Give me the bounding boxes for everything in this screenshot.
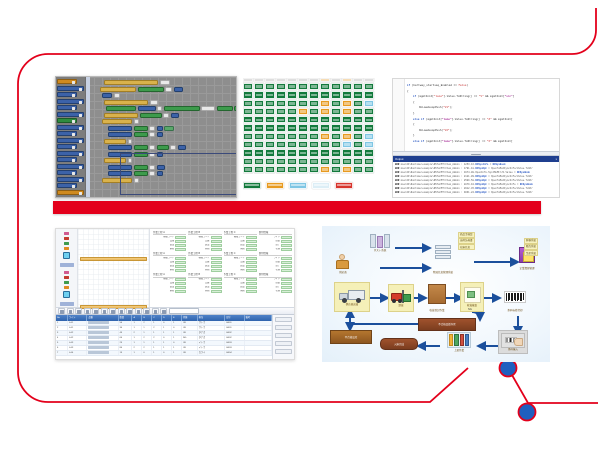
table-cell[interactable]: 0 xyxy=(172,341,182,345)
table-cell[interactable]: NG xyxy=(182,336,198,340)
table-cell[interactable]: 2 xyxy=(142,336,152,340)
form-field-value[interactable] xyxy=(246,240,257,243)
table-cell[interactable]: 1 xyxy=(162,341,172,345)
workspace-block[interactable] xyxy=(170,145,176,150)
form-field-value[interactable] xyxy=(246,236,257,239)
status-tile[interactable] xyxy=(287,166,297,173)
block-row[interactable] xyxy=(88,93,237,98)
table-cell[interactable]: OK xyxy=(182,341,198,345)
workspace-block[interactable] xyxy=(140,113,162,118)
workspace-block[interactable] xyxy=(108,126,132,131)
workspace-block[interactable] xyxy=(234,106,237,111)
status-tile[interactable] xyxy=(342,83,352,90)
resource-node[interactable] xyxy=(63,252,70,259)
form-field-value[interactable] xyxy=(175,257,186,260)
table-cell[interactable]: 3 xyxy=(56,331,68,335)
toolbar-button-open[interactable] xyxy=(67,308,74,314)
table-cell[interactable]: 1 xyxy=(162,346,172,350)
table-cell[interactable]: 0 xyxy=(162,321,172,325)
status-tile[interactable] xyxy=(298,133,308,140)
workspace-block[interactable] xyxy=(163,113,169,118)
table-cell[interactable]: 15 xyxy=(119,351,133,355)
status-tile[interactable] xyxy=(320,83,330,90)
form-field-value[interactable] xyxy=(281,278,292,281)
table-cell[interactable]: 1 xyxy=(172,321,182,325)
block-row[interactable] xyxy=(88,132,237,137)
workspace-block[interactable] xyxy=(174,87,183,92)
workspace-block[interactable] xyxy=(165,87,172,92)
table-cell[interactable]: 1 xyxy=(152,321,162,325)
table-cell[interactable]: L-03 xyxy=(68,341,88,345)
palette-block[interactable] xyxy=(57,157,77,162)
form-field-value[interactable] xyxy=(211,282,222,285)
table-cell[interactable]: 2 xyxy=(56,326,68,330)
status-tile[interactable] xyxy=(309,141,319,148)
form-field-value[interactable] xyxy=(246,248,257,251)
workspace-block[interactable] xyxy=(108,132,132,137)
form-field-value[interactable] xyxy=(175,244,186,247)
table-cell[interactable] xyxy=(245,341,272,345)
status-tile[interactable] xyxy=(353,149,363,156)
status-tile[interactable] xyxy=(265,149,275,156)
status-tile[interactable] xyxy=(353,124,363,131)
status-tile[interactable] xyxy=(342,141,352,148)
status-tile[interactable] xyxy=(287,91,297,98)
status-tile[interactable] xyxy=(309,100,319,107)
workspace-block[interactable] xyxy=(201,106,215,111)
palette-block[interactable] xyxy=(57,131,77,136)
table-cell[interactable]: OK xyxy=(182,346,198,350)
workspace-block[interactable] xyxy=(102,93,112,98)
close-icon[interactable]: x xyxy=(556,156,557,162)
table-row[interactable]: 7L-041510101OKカワイ04/04 xyxy=(56,351,272,356)
workspace-block[interactable] xyxy=(171,113,179,118)
block-row[interactable] xyxy=(88,87,237,92)
form-field-value[interactable] xyxy=(211,257,222,260)
status-tile[interactable] xyxy=(364,149,374,156)
status-tile[interactable] xyxy=(353,158,363,165)
status-tile[interactable] xyxy=(298,83,308,90)
table-cell[interactable]: 2 xyxy=(152,326,162,330)
table-cell[interactable]: 6 xyxy=(56,346,68,350)
status-tile[interactable] xyxy=(265,108,275,115)
table-cell[interactable]: 04/02 xyxy=(225,336,245,340)
workspace-block[interactable] xyxy=(114,93,120,98)
form-field-value[interactable] xyxy=(175,248,186,251)
block-row[interactable] xyxy=(88,113,237,118)
form-field-value[interactable] xyxy=(211,244,222,247)
block-row[interactable] xyxy=(88,119,237,124)
status-tile[interactable] xyxy=(254,91,264,98)
workspace-block[interactable] xyxy=(164,106,200,111)
form-field-value[interactable] xyxy=(281,257,292,260)
table-cell[interactable]: 30 xyxy=(119,326,133,330)
workspace-block[interactable] xyxy=(149,145,155,150)
table-cell[interactable]: 1 xyxy=(152,351,162,355)
table-cell[interactable]: OK xyxy=(182,321,198,325)
status-tile[interactable] xyxy=(276,116,286,123)
status-tile[interactable] xyxy=(298,166,308,173)
status-tile[interactable] xyxy=(254,124,264,131)
resource-chip[interactable] xyxy=(64,237,69,240)
resource-chip[interactable] xyxy=(64,271,69,274)
toolbar-button-paste[interactable] xyxy=(109,308,116,314)
status-tile[interactable] xyxy=(254,149,264,156)
workspace-block[interactable] xyxy=(106,106,136,111)
table-cell[interactable] xyxy=(245,326,272,330)
tile-grid-row[interactable] xyxy=(243,166,376,173)
visual-block-program-editor[interactable] xyxy=(55,76,237,198)
status-tile[interactable] xyxy=(243,158,253,165)
form-field-value[interactable] xyxy=(281,248,292,251)
block-row[interactable] xyxy=(88,100,237,105)
table-cell[interactable]: 2 xyxy=(132,346,142,350)
status-tile[interactable] xyxy=(243,141,253,148)
table-cell[interactable] xyxy=(245,351,272,355)
palette-block[interactable] xyxy=(57,118,77,123)
form-field-value[interactable] xyxy=(175,286,186,289)
palette-block[interactable] xyxy=(57,86,84,91)
status-tile[interactable] xyxy=(298,100,308,107)
status-tile[interactable] xyxy=(243,100,253,107)
resource-chip[interactable] xyxy=(64,242,69,245)
form-field-value[interactable] xyxy=(175,278,186,281)
status-tile[interactable] xyxy=(331,158,341,165)
table-cell[interactable]: 2 xyxy=(152,336,162,340)
status-tile[interactable] xyxy=(287,124,297,131)
palette-block[interactable] xyxy=(57,190,84,195)
status-tile[interactable] xyxy=(342,116,352,123)
form-field-value[interactable] xyxy=(175,236,186,239)
status-tile[interactable] xyxy=(342,91,352,98)
status-tile[interactable] xyxy=(298,124,308,131)
table-cell[interactable]: 60 xyxy=(119,336,133,340)
table-cell[interactable]: 1 xyxy=(142,331,152,335)
status-tile[interactable] xyxy=(353,141,363,148)
form-field-value[interactable] xyxy=(281,290,292,293)
form-field-value[interactable] xyxy=(246,269,257,272)
status-tile[interactable] xyxy=(243,149,253,156)
grid-side-button[interactable] xyxy=(275,349,292,354)
status-tile[interactable] xyxy=(276,133,286,140)
table-cell[interactable]: 80 xyxy=(119,346,133,350)
table-cell[interactable]: 1 xyxy=(132,351,142,355)
tile-grid-row[interactable] xyxy=(243,116,376,123)
table-cell[interactable]: 1 xyxy=(142,341,152,345)
status-tile[interactable] xyxy=(331,100,341,107)
status-tile[interactable] xyxy=(364,116,374,123)
status-tile[interactable] xyxy=(320,141,330,148)
table-cell[interactable]: 5 xyxy=(56,341,68,345)
workspace-block[interactable] xyxy=(104,139,126,144)
workspace-block[interactable] xyxy=(128,139,132,144)
status-tile[interactable] xyxy=(254,166,264,173)
table-cell[interactable]: 1 xyxy=(132,326,142,330)
table-cell[interactable]: 1 xyxy=(142,326,152,330)
status-tile[interactable] xyxy=(364,124,374,131)
table-cell[interactable]: サトウ xyxy=(198,321,225,325)
status-tile[interactable] xyxy=(298,141,308,148)
tile-grid-row[interactable] xyxy=(243,108,376,115)
status-tile[interactable] xyxy=(265,141,275,148)
workspace-block[interactable] xyxy=(104,100,148,105)
status-tile[interactable] xyxy=(309,158,319,165)
status-tile[interactable] xyxy=(298,158,308,165)
toolbar-button-redo[interactable] xyxy=(126,308,133,314)
form-field-value[interactable] xyxy=(211,278,222,281)
table-cell[interactable]: 04/03 xyxy=(225,341,245,345)
status-tile[interactable] xyxy=(276,124,286,131)
status-tile[interactable] xyxy=(342,124,352,131)
status-tile[interactable] xyxy=(298,116,308,123)
form-field-value[interactable] xyxy=(211,236,222,239)
status-tile[interactable] xyxy=(320,149,330,156)
block-palette[interactable] xyxy=(56,77,86,197)
status-tile[interactable] xyxy=(331,149,341,156)
status-tile[interactable] xyxy=(287,100,297,107)
scheduler-resource-rail[interactable] xyxy=(56,229,78,307)
table-cell[interactable]: 50 xyxy=(119,321,133,325)
gantt-bar[interactable] xyxy=(80,257,147,261)
resource-node[interactable] xyxy=(63,291,70,298)
palette-block[interactable] xyxy=(57,79,77,84)
status-tile[interactable] xyxy=(320,158,330,165)
table-cell[interactable]: 04/01 xyxy=(225,326,245,330)
status-tile[interactable] xyxy=(309,83,319,90)
palette-block[interactable] xyxy=(57,164,84,169)
form-field-value[interactable] xyxy=(281,269,292,272)
log-output-list[interactable]: ERR mserdb\Runtime\example\RSToCMT\Item_… xyxy=(393,162,559,196)
table-cell[interactable]: カワイ xyxy=(198,351,225,355)
status-tile[interactable] xyxy=(276,141,286,148)
status-tile[interactable] xyxy=(364,100,374,107)
status-tile[interactable] xyxy=(265,166,275,173)
form-field-value[interactable] xyxy=(246,282,257,285)
table-cell[interactable]: 1 xyxy=(152,331,162,335)
table-cell[interactable] xyxy=(87,351,118,355)
status-tile[interactable] xyxy=(298,108,308,115)
resource-chip[interactable] xyxy=(64,281,69,284)
workspace-block[interactable] xyxy=(157,132,163,137)
table-cell[interactable]: イトウ xyxy=(198,341,225,345)
palette-block[interactable] xyxy=(57,177,84,182)
form-field-value[interactable] xyxy=(246,261,257,264)
status-tile[interactable] xyxy=(276,166,286,173)
status-tile[interactable] xyxy=(254,141,264,148)
status-tile[interactable] xyxy=(265,116,275,123)
table-cell[interactable] xyxy=(245,331,272,335)
scheduler-data-grid[interactable]: Noライン品番数量ABCDE状態担当日付備考 1L-015012101OKサトウ… xyxy=(56,315,294,359)
data-grid-rows[interactable]: 1L-015012101OKサトウ04/012L-013011210OKサトウ0… xyxy=(56,321,272,356)
status-tile[interactable] xyxy=(287,141,297,148)
workspace-block[interactable] xyxy=(134,126,148,131)
grid-side-button[interactable] xyxy=(275,317,292,322)
table-cell[interactable]: タナカ xyxy=(198,336,225,340)
status-tile[interactable] xyxy=(243,83,253,90)
status-tile[interactable] xyxy=(364,91,374,98)
workspace-block[interactable] xyxy=(104,80,158,85)
log-line[interactable]: ERR mserdb\Runtime\example\RSToCMT\Item_… xyxy=(395,191,557,195)
palette-block[interactable] xyxy=(57,112,84,117)
status-tile[interactable] xyxy=(353,83,363,90)
data-grid-side-buttons[interactable] xyxy=(272,315,294,359)
table-cell[interactable]: OK xyxy=(182,331,198,335)
workspace-block[interactable] xyxy=(104,113,138,118)
block-workspace[interactable] xyxy=(86,77,237,197)
status-tile[interactable] xyxy=(320,116,330,123)
table-cell[interactable] xyxy=(245,321,272,325)
table-cell[interactable] xyxy=(245,336,272,340)
scheduler-detail-form[interactable]: 作業工程 A機種コード品番数量納期作業工程 B機種コード品番数量納期作業工程 C… xyxy=(150,229,294,307)
toolbar-button-save[interactable] xyxy=(75,308,82,314)
workspace-block[interactable] xyxy=(134,119,139,124)
status-tile[interactable] xyxy=(243,133,253,140)
workspace-block[interactable] xyxy=(160,80,170,85)
status-tile[interactable] xyxy=(287,108,297,115)
status-tile[interactable] xyxy=(276,83,286,90)
tile-grid-row[interactable] xyxy=(243,83,376,90)
form-field-value[interactable] xyxy=(211,269,222,272)
code-editor-window[interactable]: if (bartway_startseq_Enabled == false){i… xyxy=(392,78,560,198)
workspace-block[interactable] xyxy=(178,145,186,150)
form-field-value[interactable] xyxy=(246,257,257,260)
table-cell[interactable]: 1 xyxy=(172,331,182,335)
status-tile[interactable] xyxy=(353,100,363,107)
toolbar-combo[interactable] xyxy=(169,308,199,314)
status-tile[interactable] xyxy=(320,124,330,131)
status-tile[interactable] xyxy=(254,83,264,90)
table-cell[interactable]: 1 xyxy=(162,331,172,335)
form-field-value[interactable] xyxy=(175,269,186,272)
form-field-value[interactable] xyxy=(281,282,292,285)
table-cell[interactable]: 1 xyxy=(172,346,182,350)
status-tile[interactable] xyxy=(331,133,341,140)
status-tile[interactable] xyxy=(353,91,363,98)
table-cell[interactable]: 04/02 xyxy=(225,331,245,335)
form-field-value[interactable] xyxy=(211,286,222,289)
resource-chip[interactable] xyxy=(64,247,69,250)
table-cell[interactable] xyxy=(87,346,118,350)
slot-status-grid[interactable] xyxy=(243,78,376,174)
workspace-block[interactable] xyxy=(149,126,155,131)
tile-grid-row[interactable] xyxy=(243,124,376,131)
table-cell[interactable]: 1 xyxy=(132,336,142,340)
code-body[interactable]: if (bartway_startseq_Enabled == false){i… xyxy=(407,83,556,145)
tile-grid-row[interactable] xyxy=(243,149,376,156)
toolbar-button-filter[interactable] xyxy=(143,308,150,314)
status-tile[interactable] xyxy=(254,133,264,140)
status-tile[interactable] xyxy=(265,83,275,90)
toolbar-button-sort[interactable] xyxy=(152,308,159,314)
workspace-block[interactable] xyxy=(157,126,163,131)
table-cell[interactable]: 1 xyxy=(162,326,172,330)
form-field-value[interactable] xyxy=(281,261,292,264)
status-tile[interactable] xyxy=(254,100,264,107)
status-tile[interactable] xyxy=(298,91,308,98)
table-cell[interactable]: OK xyxy=(182,326,198,330)
palette-block[interactable] xyxy=(57,99,84,104)
status-tile[interactable] xyxy=(364,83,374,90)
status-tile[interactable] xyxy=(309,149,319,156)
status-tile[interactable] xyxy=(353,133,363,140)
code-line[interactable]: else if (mgmtInit["lane"].Value.ToString… xyxy=(407,139,556,145)
status-tile[interactable] xyxy=(364,166,374,173)
status-tile[interactable] xyxy=(320,108,330,115)
data-grid-main[interactable]: Noライン品番数量ABCDE状態担当日付備考 1L-015012101OKサトウ… xyxy=(56,315,272,359)
form-field-value[interactable] xyxy=(175,290,186,293)
table-cell[interactable]: 04/04 xyxy=(225,351,245,355)
table-cell[interactable]: OK xyxy=(182,351,198,355)
status-tile[interactable] xyxy=(331,116,341,123)
toolbar-button-new[interactable] xyxy=(58,308,65,314)
palette-block[interactable] xyxy=(57,144,77,149)
status-tile[interactable] xyxy=(276,158,286,165)
table-cell[interactable]: 0 xyxy=(142,351,152,355)
workspace-block[interactable] xyxy=(157,106,162,111)
table-cell[interactable] xyxy=(87,326,118,330)
table-cell[interactable] xyxy=(87,336,118,340)
status-tile[interactable] xyxy=(342,149,352,156)
status-tile[interactable] xyxy=(331,108,341,115)
status-tile[interactable] xyxy=(243,116,253,123)
table-cell[interactable]: 2 xyxy=(142,346,152,350)
form-field-value[interactable] xyxy=(211,290,222,293)
block-row[interactable] xyxy=(88,145,237,150)
palette-block[interactable] xyxy=(57,183,77,188)
status-tile[interactable] xyxy=(309,133,319,140)
table-cell[interactable]: 4 xyxy=(56,336,68,340)
status-tile[interactable] xyxy=(342,133,352,140)
block-row[interactable] xyxy=(88,139,237,144)
workspace-block[interactable] xyxy=(149,132,155,137)
status-tile[interactable] xyxy=(309,116,319,123)
form-field-value[interactable] xyxy=(175,265,186,268)
status-tile[interactable] xyxy=(265,124,275,131)
resource-chip[interactable] xyxy=(64,276,69,279)
status-tile[interactable] xyxy=(276,108,286,115)
toolbar-button-print[interactable] xyxy=(84,308,91,314)
workspace-block[interactable] xyxy=(134,145,148,150)
status-tile[interactable] xyxy=(364,158,374,165)
form-field-value[interactable] xyxy=(175,240,186,243)
table-cell[interactable]: L-02 xyxy=(68,331,88,335)
form-field-value[interactable] xyxy=(246,286,257,289)
table-cell[interactable]: L-04 xyxy=(68,351,88,355)
workspace-block[interactable] xyxy=(134,132,148,137)
table-cell[interactable] xyxy=(87,321,118,325)
table-cell[interactable]: L-01 xyxy=(68,326,88,330)
table-cell[interactable]: 1 xyxy=(152,346,162,350)
status-tile[interactable] xyxy=(320,91,330,98)
status-tile[interactable] xyxy=(265,158,275,165)
workspace-block[interactable] xyxy=(100,87,136,92)
table-cell[interactable]: 45 xyxy=(119,331,133,335)
form-field-value[interactable] xyxy=(281,286,292,289)
table-cell[interactable]: 1 xyxy=(172,351,182,355)
form-field-value[interactable] xyxy=(246,244,257,247)
status-tile[interactable] xyxy=(287,116,297,123)
table-cell[interactable]: L-02 xyxy=(68,336,88,340)
table-cell[interactable]: サトウ xyxy=(198,326,225,330)
table-cell[interactable]: 1 xyxy=(132,341,142,345)
status-tile[interactable] xyxy=(287,133,297,140)
status-tile[interactable] xyxy=(331,91,341,98)
tile-grid-row[interactable] xyxy=(243,141,376,148)
table-cell[interactable]: 0 xyxy=(162,336,172,340)
block-row[interactable] xyxy=(88,80,237,85)
status-tile[interactable] xyxy=(331,166,341,173)
table-cell[interactable]: L-01 xyxy=(68,321,88,325)
